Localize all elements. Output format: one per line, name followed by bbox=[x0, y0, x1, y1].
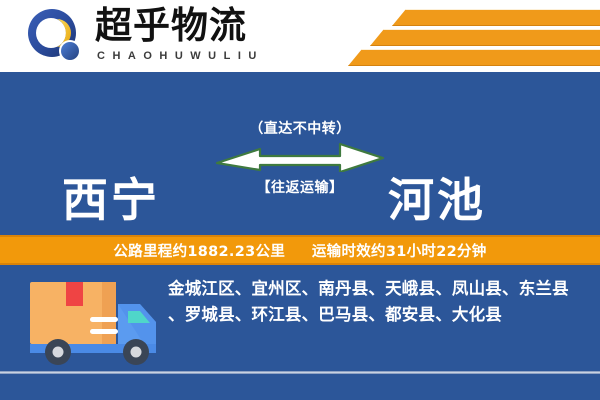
brand-name-en: CHAOHUWULIU bbox=[97, 50, 264, 62]
route-middle: （直达不中转） 【往返运输】 bbox=[210, 118, 390, 197]
direct-service-note: （直达不中转） bbox=[210, 118, 390, 138]
stripe-2 bbox=[370, 29, 600, 46]
coverage-line-1: 金城江区、宜州区、南丹县、天峨县、凤山县、东兰县 bbox=[168, 276, 588, 302]
route-section: 西宁 （直达不中转） 【往返运输】 河池 bbox=[0, 72, 600, 235]
bidirectional-arrow-icon bbox=[215, 142, 385, 172]
duration-text: 运输时效约31小时22分钟 bbox=[312, 244, 487, 260]
origin-city: 西宁 bbox=[62, 172, 160, 228]
distance-text: 公路里程约1882.23公里 bbox=[113, 244, 285, 260]
coverage-area-list: 金城江区、宜州区、南丹县、天峨县、凤山县、东兰县 、罗城县、环江县、巴马县、都安… bbox=[168, 276, 588, 328]
roundtrip-note: 【往返运输】 bbox=[210, 177, 390, 197]
stripe-3 bbox=[348, 49, 600, 66]
coverage-line-2: 、罗城县、环江县、巴马县、都安县、大化县 bbox=[168, 302, 588, 328]
circle-q-logo-icon bbox=[27, 8, 84, 65]
banner-header: 超乎物流 CHAOHUWULIU bbox=[0, 0, 600, 72]
banner-footer bbox=[0, 374, 600, 400]
destination-city: 河池 bbox=[388, 172, 486, 228]
decorative-stripes bbox=[330, 0, 600, 72]
route-info-bar: 公路里程约1882.23公里 运输时效约31小时22分钟 bbox=[0, 235, 600, 265]
brand-name-cn: 超乎物流 bbox=[95, 4, 247, 48]
logistics-route-banner: 超乎物流 CHAOHUWULIU 西宁 （直达不中转） 【往返运输】 河池 公路… bbox=[0, 0, 600, 400]
stripe-1 bbox=[392, 9, 600, 26]
delivery-truck-icon bbox=[24, 278, 164, 376]
